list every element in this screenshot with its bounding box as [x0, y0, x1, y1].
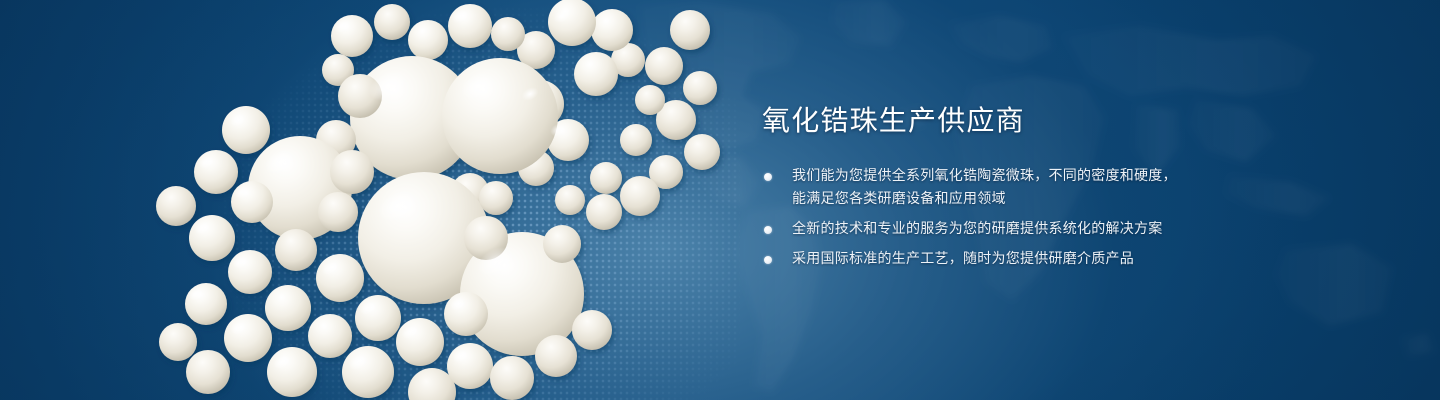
bullet-dot-icon	[764, 173, 772, 181]
list-item: 我们能为您提供全系列氧化锆陶瓷微珠，不同的密度和硬度， 能满足您各类研磨设备和应…	[762, 165, 1282, 211]
page-title: 氧化锆珠生产供应商	[762, 103, 1282, 139]
bullet-dot-icon	[764, 226, 772, 234]
bullet-text-line: 全新的技术和专业的服务为您的研磨提供系统化的解决方案	[792, 218, 1282, 241]
bullet-text-line: 能满足您各类研磨设备和应用领域	[792, 188, 1282, 211]
bullet-text-line: 采用国际标准的生产工艺，随时为您提供研磨介质产品	[792, 248, 1282, 271]
feature-bullet-list: 我们能为您提供全系列氧化锆陶瓷微珠，不同的密度和硬度， 能满足您各类研磨设备和应…	[762, 165, 1282, 271]
list-item: 采用国际标准的生产工艺，随时为您提供研磨介质产品	[762, 248, 1282, 271]
bullet-text-line: 我们能为您提供全系列氧化锆陶瓷微珠，不同的密度和硬度，	[792, 165, 1282, 188]
hero-banner: 氧化锆珠生产供应商 我们能为您提供全系列氧化锆陶瓷微珠，不同的密度和硬度， 能满…	[0, 0, 1440, 400]
zirconia-bead-cluster-image	[0, 0, 820, 400]
list-item: 全新的技术和专业的服务为您的研磨提供系统化的解决方案	[762, 218, 1282, 241]
banner-copy: 氧化锆珠生产供应商 我们能为您提供全系列氧化锆陶瓷微珠，不同的密度和硬度， 能满…	[762, 103, 1282, 271]
bullet-dot-icon	[764, 256, 772, 264]
